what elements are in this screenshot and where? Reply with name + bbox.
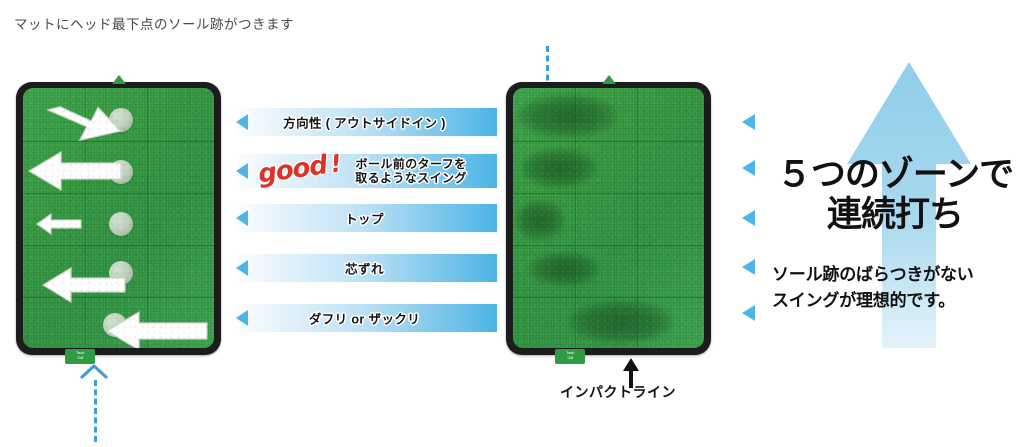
label-band-4: 芯ずれ [232,254,497,282]
label-band-4-text: 芯ずれ [232,259,497,278]
sole-mark-zone-5 [569,300,673,344]
mat-hanger-icon [602,75,616,84]
right-mat: TouchGolf [506,82,711,355]
right-triangle-1-icon [742,114,755,130]
mat-hanger-icon [112,75,126,84]
zone-arrow-2-icon [27,150,123,192]
golf-ball [109,212,133,236]
right-mat-body: TouchGolf [506,82,711,355]
right-triangle-4-icon [742,259,755,275]
right-mat-brand-tag: TouchGolf [555,349,585,364]
label-band-5-text: ダフリ or ザックリ [232,309,497,328]
left-mat-body: TouchGolf [16,82,221,355]
band-5-triangle-icon [236,310,248,326]
label-band-2-text: ボール前のターフを 取るようなスイング [331,157,491,185]
left-mat-brand-tag: TouchGolf [65,349,95,364]
left-mat: TouchGolf [16,82,221,355]
impact-line-label: インパクトライン [560,382,676,402]
left-mat-surface [23,88,214,348]
sole-mark-zone-1 [517,94,617,138]
sole-mark-zone-2 [521,148,597,188]
right-headline: ５つのゾーンで 連続打ち [770,155,1020,235]
right-triangle-2-icon [742,160,755,176]
right-triangle-5-icon [742,305,755,321]
band-4-triangle-icon [236,260,248,276]
band-2-triangle-icon [236,163,248,179]
band-1-triangle-icon [236,114,248,130]
header-caption: マットにヘッド最下点のソール跡がつきます [14,13,294,33]
right-triangle-3-icon [742,210,755,226]
zone-arrow-1-icon [29,94,125,150]
label-band-1: 方向性 ( アウトサイドイン ) [232,108,497,136]
label-band-5: ダフリ or ザックリ [232,304,497,332]
sole-mark-zone-3 [515,200,565,240]
zone-arrow-3-icon [35,212,83,236]
zone-arrow-4-icon [41,266,127,304]
left-guide-dashed-line [94,380,97,442]
label-band-3-text: トップ [232,209,497,228]
sole-mark-zone-4 [529,252,599,286]
right-subtext: ソール跡のばらつきがない スイングが理想的です。 [772,262,1024,314]
infographic-canvas: マットにヘッド最下点のソール跡がつきます [0,0,1024,447]
zone-arrow-5-icon [105,310,209,348]
right-mat-surface [513,88,704,348]
label-band-3: トップ [232,204,497,232]
label-band-1-text: 方向性 ( アウトサイドイン ) [232,113,497,132]
band-3-triangle-icon [236,210,248,226]
